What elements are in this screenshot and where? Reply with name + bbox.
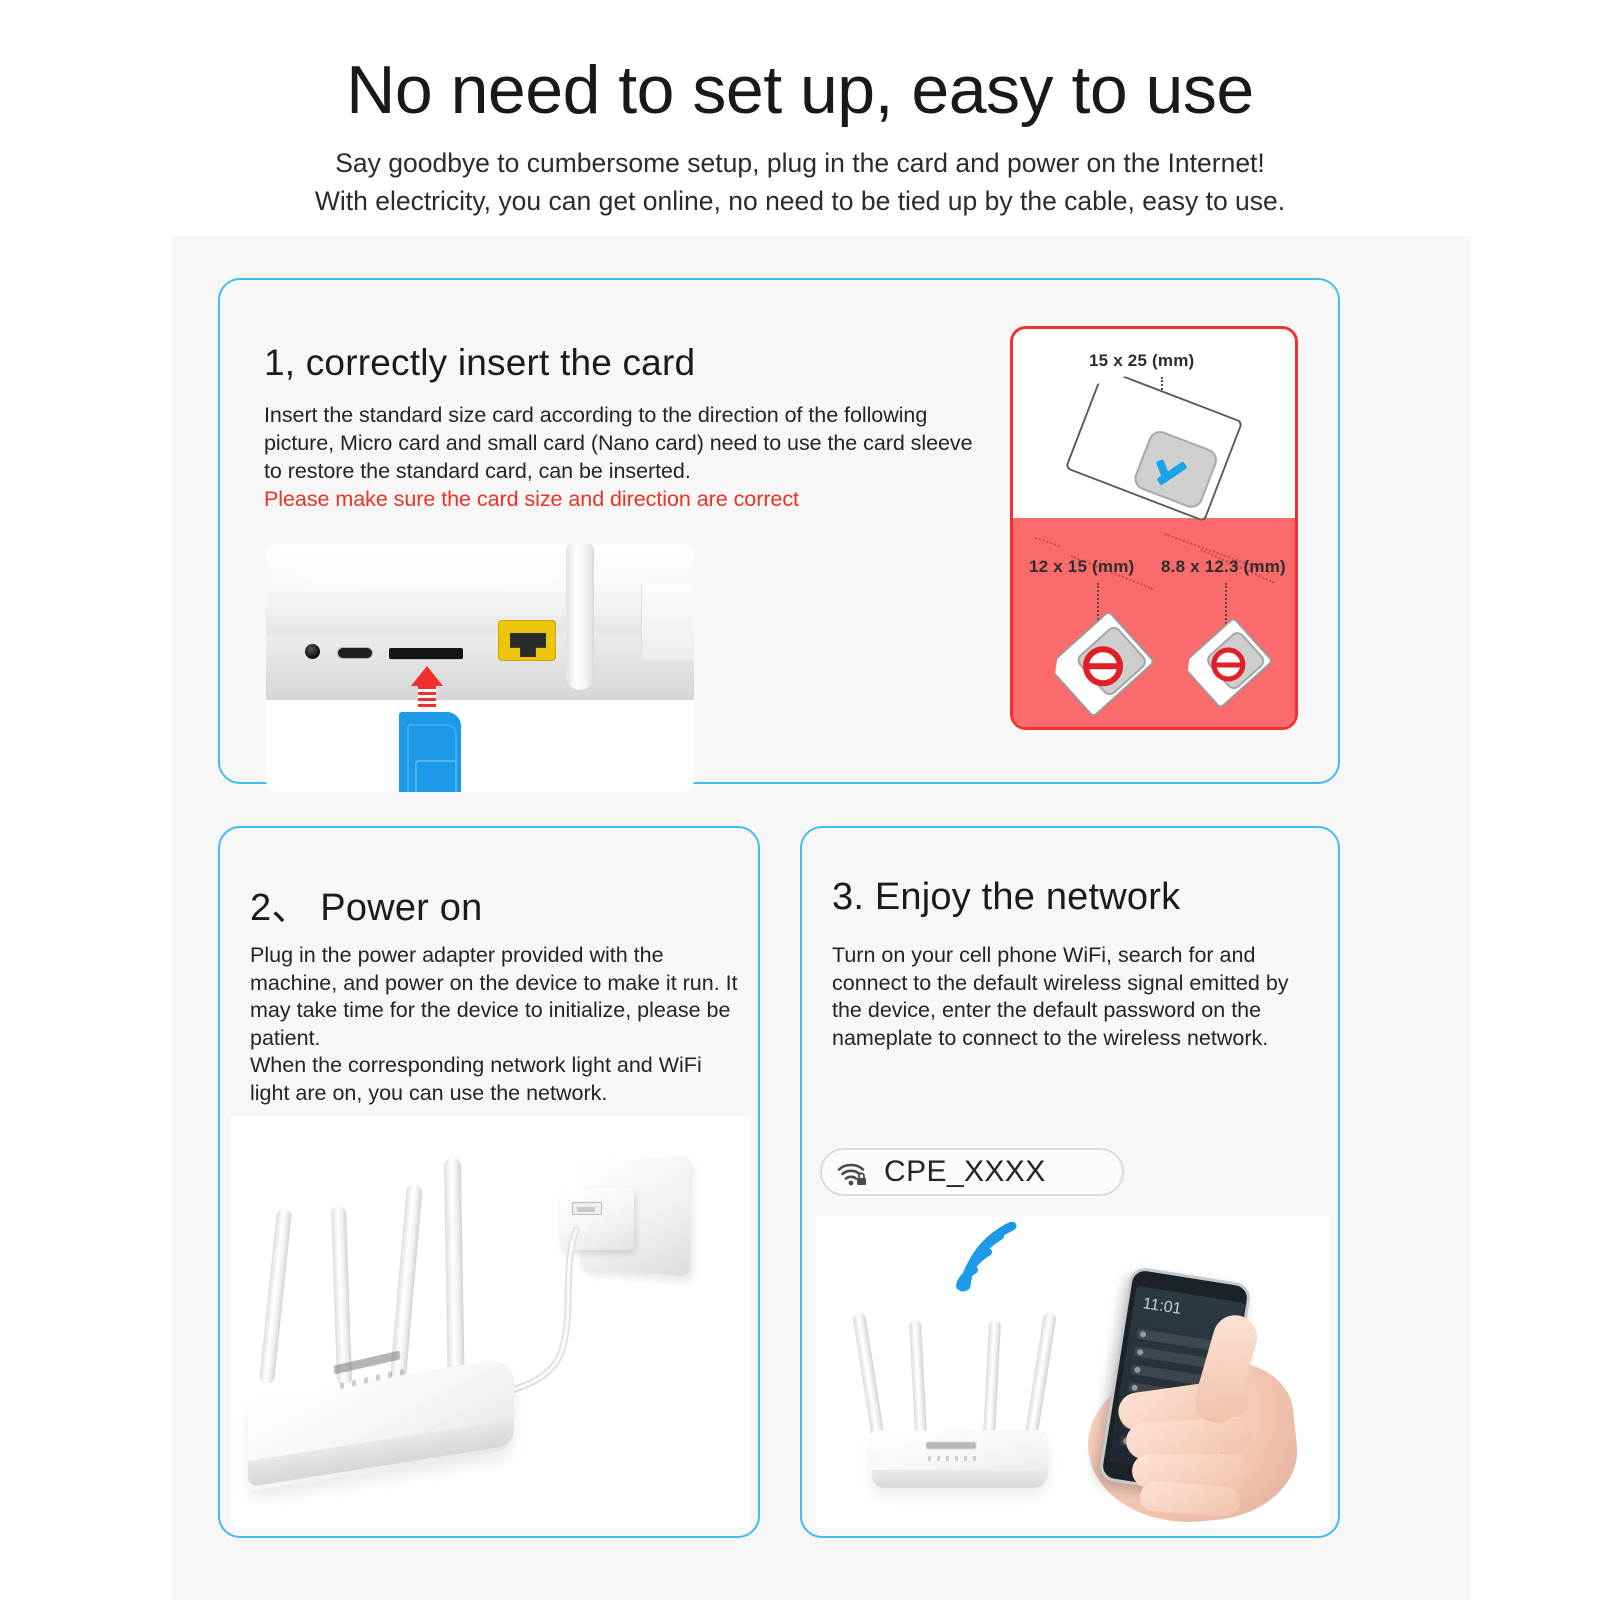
insert-arrow-stem [418, 686, 436, 710]
step-2-paragraph-1: Plug in the power adapter provided with … [250, 942, 742, 1052]
page-title: No need to set up, easy to use [0, 0, 1600, 124]
antenna [1024, 1312, 1057, 1440]
antenna [909, 1320, 927, 1436]
insert-arrow-icon [411, 666, 443, 686]
step-card-3: 3. Enjoy the network Turn on your cell p… [800, 826, 1340, 1538]
step-1-title: 1, correctly insert the card [264, 342, 695, 384]
diagram-forbidden-region [1013, 518, 1295, 727]
page-subtitle-line-2: With electricity, you can get online, no… [0, 183, 1600, 221]
wifi-ssid-pill[interactable]: CPE_XXXX [820, 1148, 1124, 1196]
step-card-2: 2、 Power on Plug in the power adapter pr… [218, 826, 760, 1538]
antenna [852, 1312, 885, 1440]
header: No need to set up, easy to use Say goodb… [0, 0, 1600, 220]
antenna [983, 1320, 1001, 1438]
phone-clock: 11:01 [1141, 1295, 1182, 1319]
step-3-paragraph: Turn on your cell phone WiFi, search for… [832, 942, 1310, 1052]
sim-card-graphic [399, 712, 461, 792]
steps-panel: 1, correctly insert the card Insert the … [172, 236, 1470, 1600]
port-strip [266, 636, 694, 700]
micro-sim-size-label: 12 x 15 (mm) [1029, 557, 1134, 577]
chassis-right-block [641, 584, 694, 660]
sim-card-slot [389, 648, 463, 659]
router-led-indicators [928, 1456, 976, 1461]
step-2-title: 2、 Power on [250, 876, 482, 931]
step-3-body: Turn on your cell phone WiFi, search for… [832, 942, 1310, 1052]
page-root: No need to set up, easy to use Say goodb… [0, 0, 1600, 1600]
page-subtitle: Say goodbye to cumbersome setup, plug in… [0, 124, 1600, 220]
router-logo [926, 1442, 976, 1449]
wifi-signal-icon [952, 1222, 1034, 1294]
router-power-adapter-photo [230, 1116, 750, 1528]
router-wifi-phone-photo: 11:01 [816, 1216, 1330, 1528]
hand-holding-phone: 11:01 [1088, 1268, 1328, 1528]
router-chassis [266, 558, 694, 686]
antenna [331, 1206, 352, 1386]
usb-c-port-icon [337, 647, 373, 659]
usb-port-icon [572, 1202, 602, 1215]
check-icon [1156, 449, 1201, 484]
step-2-body: Plug in the power adapter provided with … [250, 942, 742, 1107]
sim-size-diagram: 15 x 25 (mm) 12 x 15 (mm) 8.8 x 12.3 (mm… [1010, 326, 1298, 730]
page-subtitle-line-1: Say goodbye to cumbersome setup, plug in… [0, 145, 1600, 183]
chassis-highlight [272, 562, 672, 592]
wifi-ssid-label: CPE_XXXX [884, 1155, 1046, 1189]
step-3-title: 3. Enjoy the network [832, 876, 1180, 919]
step-1-paragraph: Insert the standard size card according … [264, 402, 994, 486]
reset-pinhole-icon [305, 644, 320, 659]
antenna [566, 544, 594, 690]
antenna [259, 1208, 292, 1385]
nano-sim-size-label: 8.8 x 12.3 (mm) [1161, 557, 1286, 577]
router-ports-photo [266, 544, 694, 792]
step-2-paragraph-2: When the corresponding network light and… [250, 1052, 742, 1107]
step-1-warning: Please make sure the card size and direc… [264, 486, 994, 514]
no-entry-icon [1083, 646, 1123, 686]
ethernet-port-icon [498, 620, 556, 661]
wifi-lock-icon [836, 1158, 870, 1186]
step-1-body: Insert the standard size card according … [264, 402, 994, 514]
step-card-1: 1, correctly insert the card Insert the … [218, 278, 1340, 784]
